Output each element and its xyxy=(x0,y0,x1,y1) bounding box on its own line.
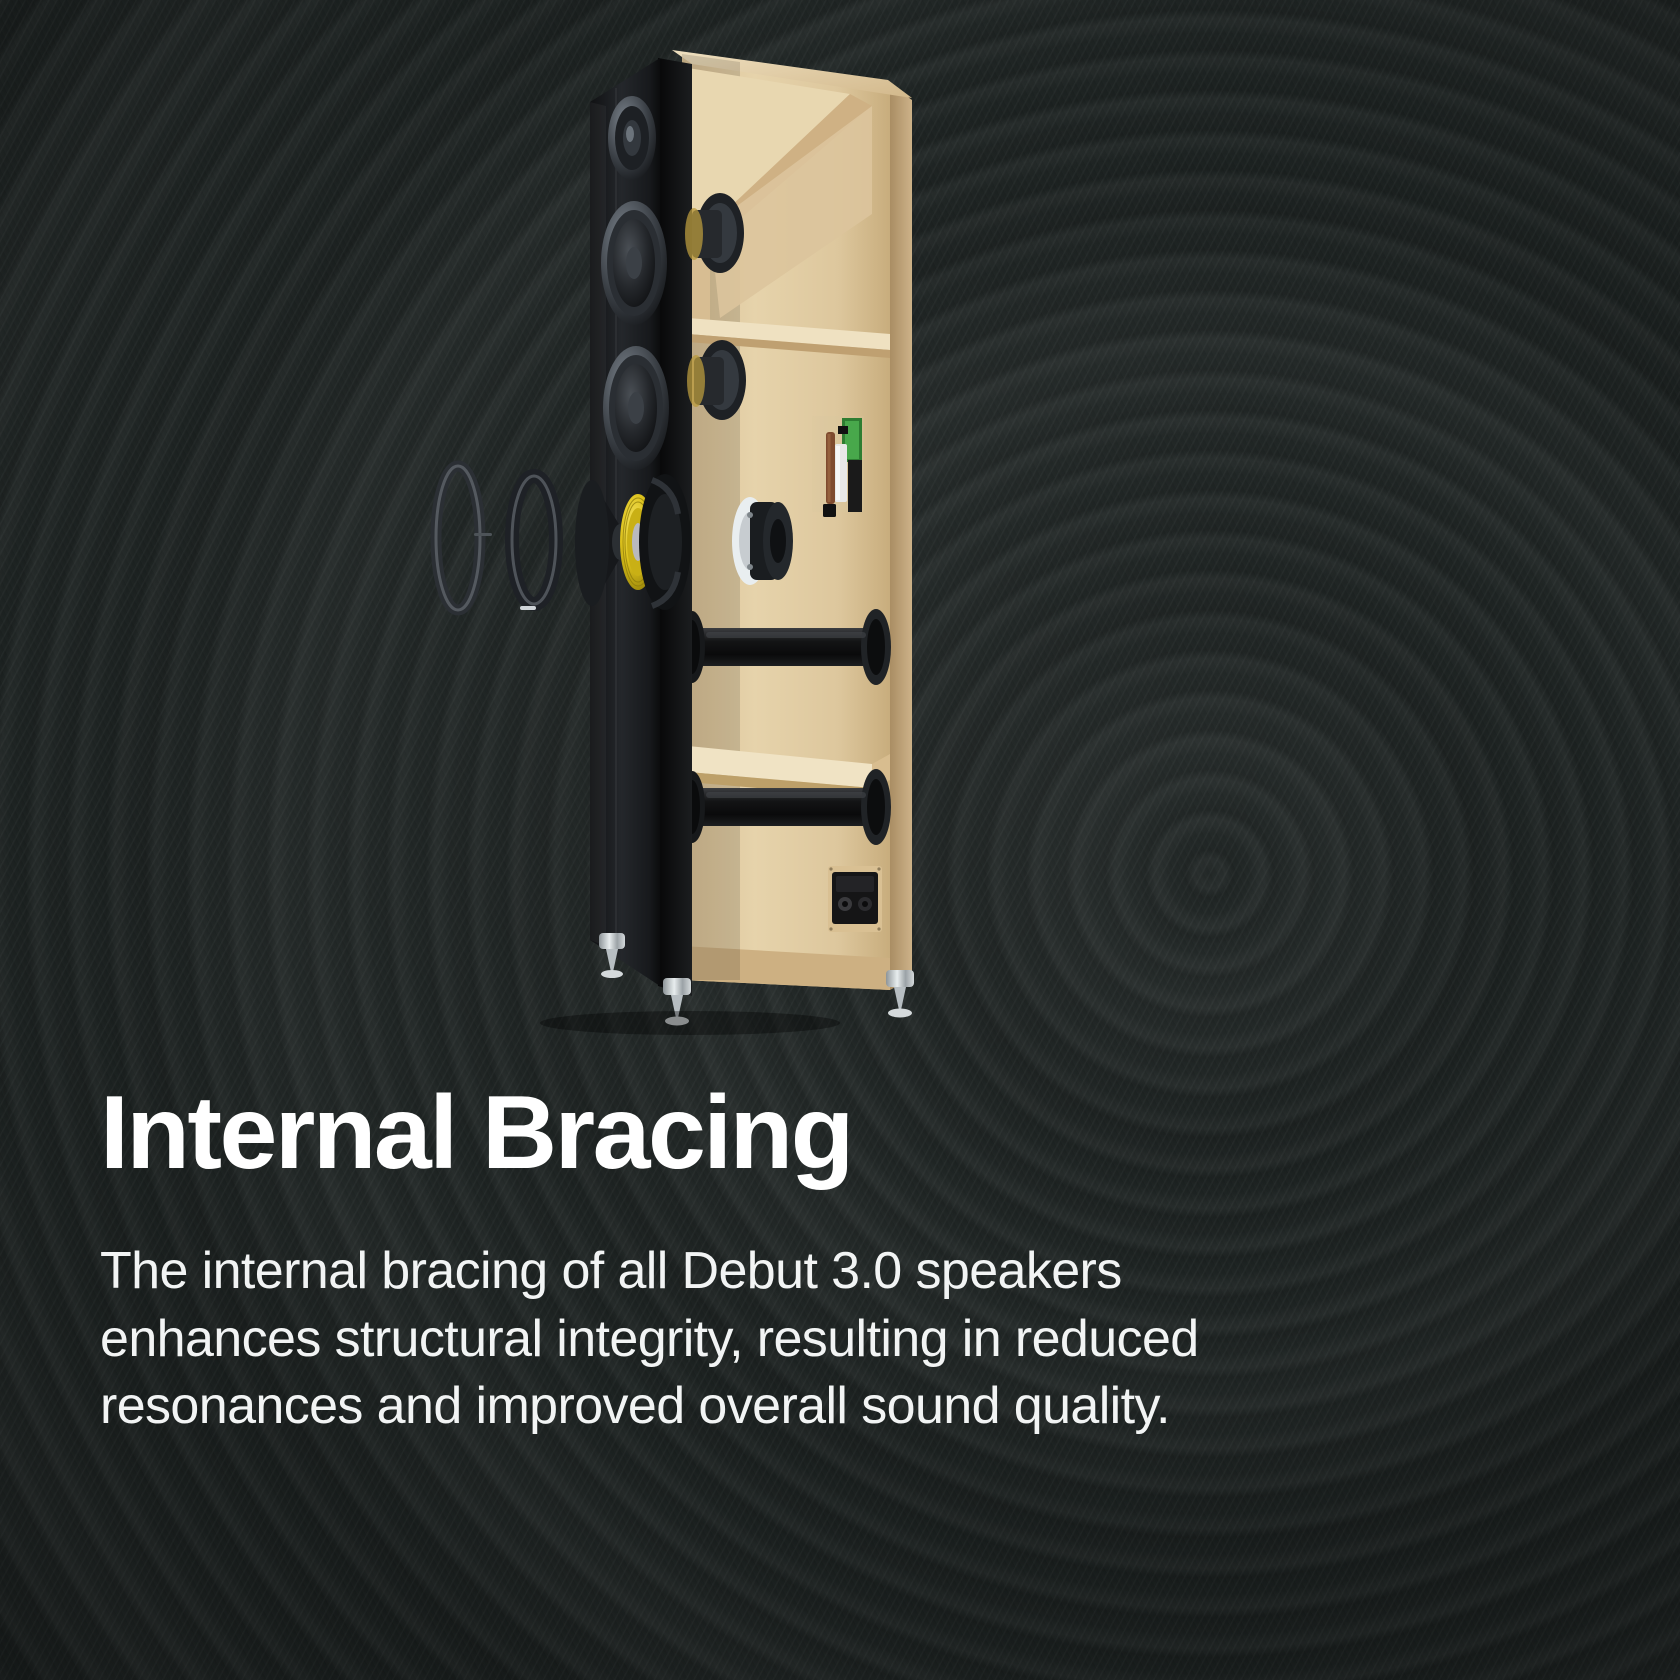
woofer xyxy=(603,346,669,470)
foot-right xyxy=(886,970,914,1018)
driver-surround xyxy=(512,476,556,610)
promo-card: Internal Bracing The internal bracing of… xyxy=(0,0,1680,1680)
midrange-driver xyxy=(601,201,667,325)
grille-ring xyxy=(436,466,492,610)
description: The internal bracing of all Debut 3.0 sp… xyxy=(100,1238,1490,1441)
description-line-2: enhances structural integrity, resulting… xyxy=(100,1306,1490,1374)
speaker-cutaway-illustration xyxy=(420,28,980,1038)
description-line-1: The internal bracing of all Debut 3.0 sp… xyxy=(100,1238,1490,1306)
tweeter xyxy=(608,96,656,180)
crossover-board xyxy=(812,416,864,517)
magnet-assembly xyxy=(732,497,793,585)
cabinet-right-side xyxy=(890,84,912,990)
hero-product-image xyxy=(420,28,980,1038)
binding-post-terminal xyxy=(828,866,882,932)
driver-basket xyxy=(639,474,691,610)
text-block: Internal Bracing The internal bracing of… xyxy=(100,1080,1560,1441)
contact-shadow xyxy=(540,1011,840,1035)
description-line-3: resonances and improved overall sound qu… xyxy=(100,1373,1490,1441)
page-title: Internal Bracing xyxy=(100,1080,1560,1186)
